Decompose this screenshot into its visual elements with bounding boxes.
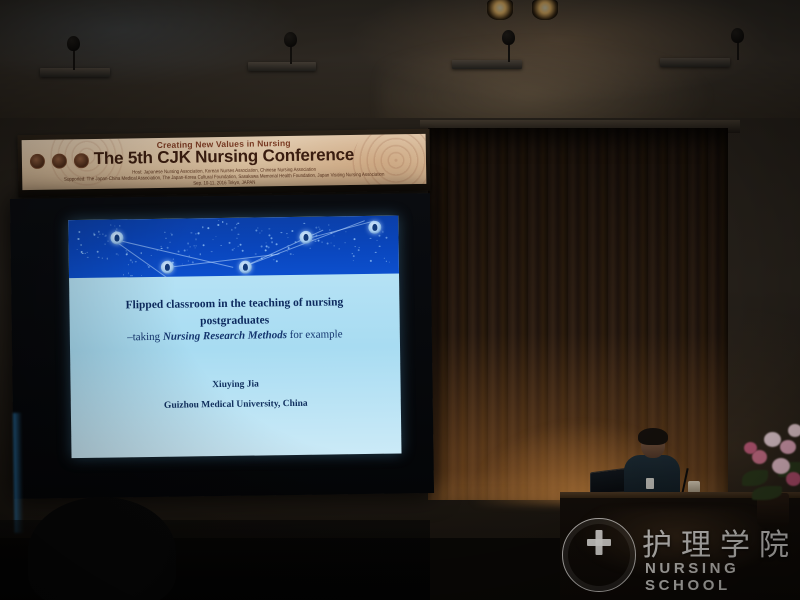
spotlight-icon <box>502 30 515 45</box>
speaker-hair <box>638 428 668 445</box>
slide-title: Flipped classroom in the teaching of nur… <box>83 294 385 332</box>
subtitle-italic: Nursing Research Methods <box>163 329 287 343</box>
screen-edge-light <box>13 413 24 533</box>
person-node-icon <box>161 261 174 274</box>
slide-hero-graphic <box>68 216 399 279</box>
spotlight-plate <box>248 62 316 71</box>
flower-bloom <box>772 458 790 474</box>
flower-bloom <box>744 442 757 454</box>
person-node-icon <box>368 221 381 234</box>
slide-presenter: Xiuying Jia <box>70 378 400 393</box>
podium-logo-english: NURSING SCHOOL <box>645 560 800 594</box>
slide-affiliation: Guizhou Medical University, China <box>71 398 401 413</box>
person-node-icon <box>110 231 123 244</box>
conference-photo: Creating New Values in Nursing The 5th C… <box>0 0 800 600</box>
flower-bloom <box>780 440 796 454</box>
spotlight-plate <box>452 60 522 69</box>
speaker-name-badge <box>646 478 654 489</box>
subtitle-prefix: –taking <box>127 331 163 343</box>
spotlight-plate <box>660 58 730 67</box>
nursing-school-seal-icon <box>562 518 636 592</box>
banner-surface: Creating New Values in Nursing The 5th C… <box>22 134 427 190</box>
flower-bloom <box>764 432 781 447</box>
person-node-icon <box>299 231 312 244</box>
spotlight-icon <box>731 28 744 43</box>
flower-bloom <box>788 424 800 437</box>
presentation-slide: Flipped classroom in the teaching of nur… <box>68 216 401 459</box>
audience-silhouette <box>28 497 176 600</box>
spotlight-icon <box>67 36 80 51</box>
projection-screen: Flipped classroom in the teaching of nur… <box>10 193 434 499</box>
flower-bloom <box>786 472 800 486</box>
person-node-icon <box>239 261 252 274</box>
conference-banner: Creating New Values in Nursing The 5th C… <box>18 129 431 197</box>
spotlight-plate <box>40 68 110 77</box>
spotlight-icon <box>284 32 297 47</box>
subtitle-suffix: for example <box>287 328 343 341</box>
